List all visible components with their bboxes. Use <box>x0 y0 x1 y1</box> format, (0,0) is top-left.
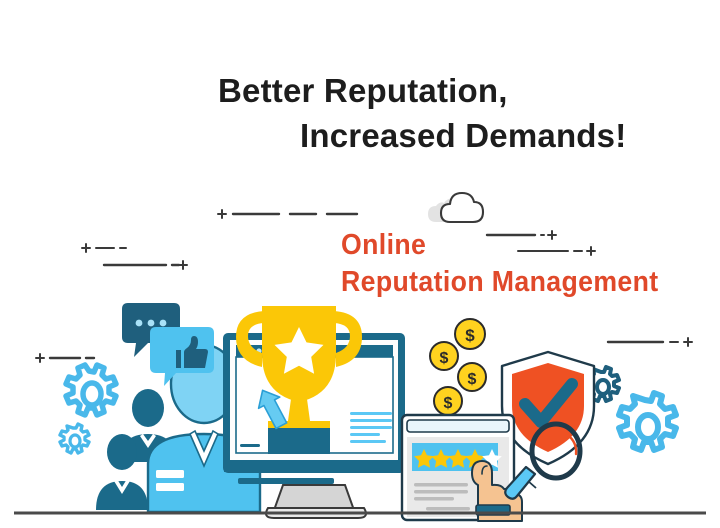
gear-small-left <box>60 424 89 453</box>
svg-text:$: $ <box>440 350 449 367</box>
cloud <box>428 193 483 222</box>
coin: $ <box>434 387 462 415</box>
gear-large-right <box>619 393 676 450</box>
coin-stack: $ $ $ $ <box>430 319 486 415</box>
gear-large-left <box>66 365 116 415</box>
illustration-canvas: $ $ $ $ <box>0 0 720 528</box>
svg-text:$: $ <box>468 371 477 388</box>
coin: $ <box>430 342 458 370</box>
svg-text:$: $ <box>444 395 453 412</box>
illustration-svg: $ $ $ $ <box>0 0 720 528</box>
coin: $ <box>455 319 485 349</box>
coin: $ <box>458 363 486 391</box>
svg-text:$: $ <box>465 326 475 345</box>
